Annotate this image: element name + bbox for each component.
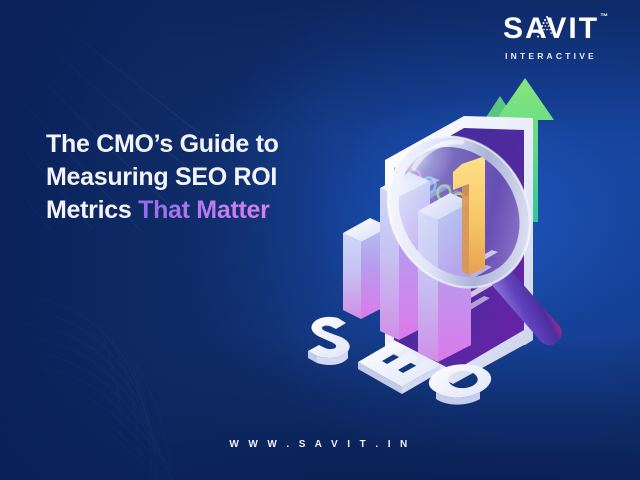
logo-wordmark: SAVIT ™ — [503, 14, 599, 44]
trademark-icon: ™ — [600, 13, 608, 21]
seo-isometric-illustration — [286, 72, 640, 417]
logo-subtitle: INTERACTIVE — [486, 51, 616, 61]
seo-letter-s — [308, 317, 350, 365]
footer-website-url[interactable]: W W W . S A V I T . I N — [0, 439, 640, 450]
headline-line-3-plain: Metrics — [46, 196, 138, 224]
logo-a-dot-pattern-icon — [534, 15, 560, 39]
brand-logo[interactable]: SAVIT ™ INTERACTIVE — [486, 14, 616, 61]
headline-line-3-accent: That Matter — [138, 196, 269, 224]
banner-canvas: SAVIT ™ INTERACTIVE The CMO’s Guide to M… — [0, 0, 640, 480]
